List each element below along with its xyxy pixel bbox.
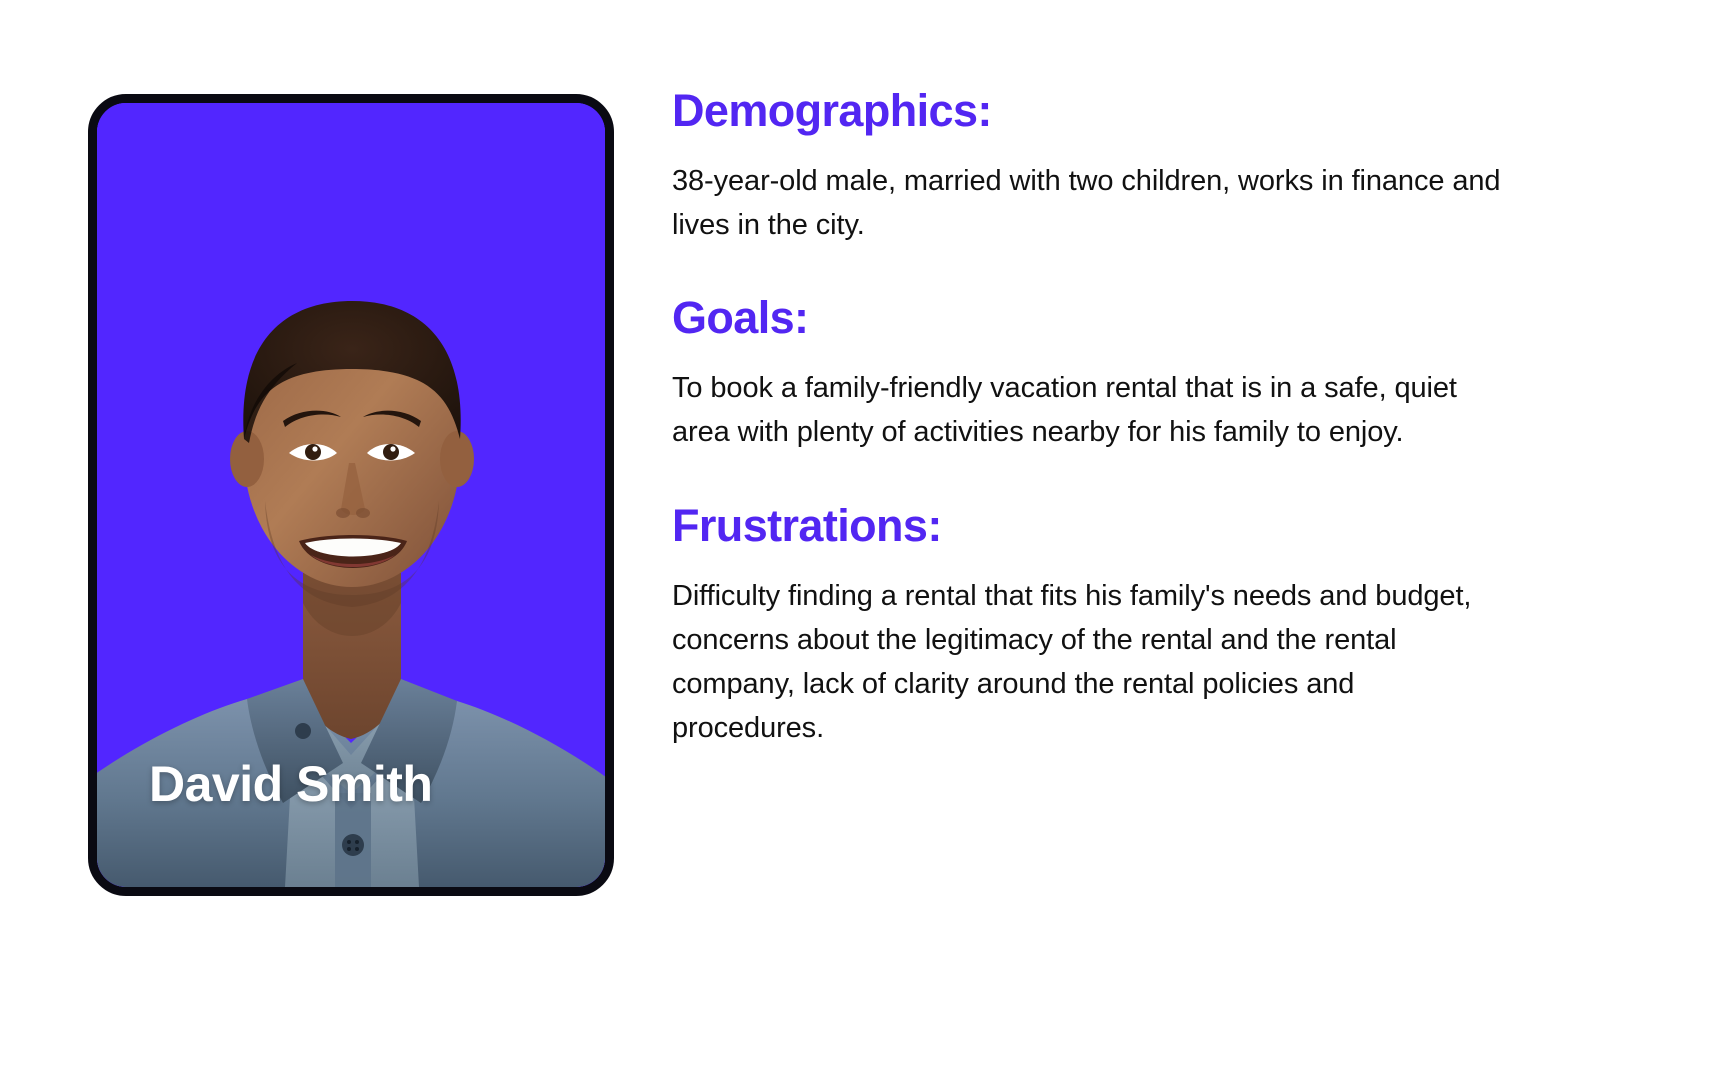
section-body-frustrations: Difficulty finding a rental that fits hi…	[672, 574, 1504, 750]
persona-portrait-panel: David Smith	[88, 94, 614, 896]
persona-name: David Smith	[149, 759, 432, 809]
section-demographics: Demographics: 38-year-old male, married …	[672, 84, 1504, 247]
section-body-goals: To book a family-friendly vacation renta…	[672, 366, 1504, 454]
section-heading-goals: Goals:	[672, 291, 1504, 344]
section-frustrations: Frustrations: Difficulty finding a renta…	[672, 499, 1504, 750]
persona-card: David Smith Demographics: 38-year-old ma…	[0, 0, 1728, 1080]
section-body-demographics: 38-year-old male, married with two child…	[672, 159, 1504, 247]
persona-info-column: Demographics: 38-year-old male, married …	[672, 84, 1504, 764]
section-heading-frustrations: Frustrations:	[672, 499, 1504, 552]
section-goals: Goals: To book a family-friendly vacatio…	[672, 291, 1504, 454]
section-heading-demographics: Demographics:	[672, 84, 1504, 137]
